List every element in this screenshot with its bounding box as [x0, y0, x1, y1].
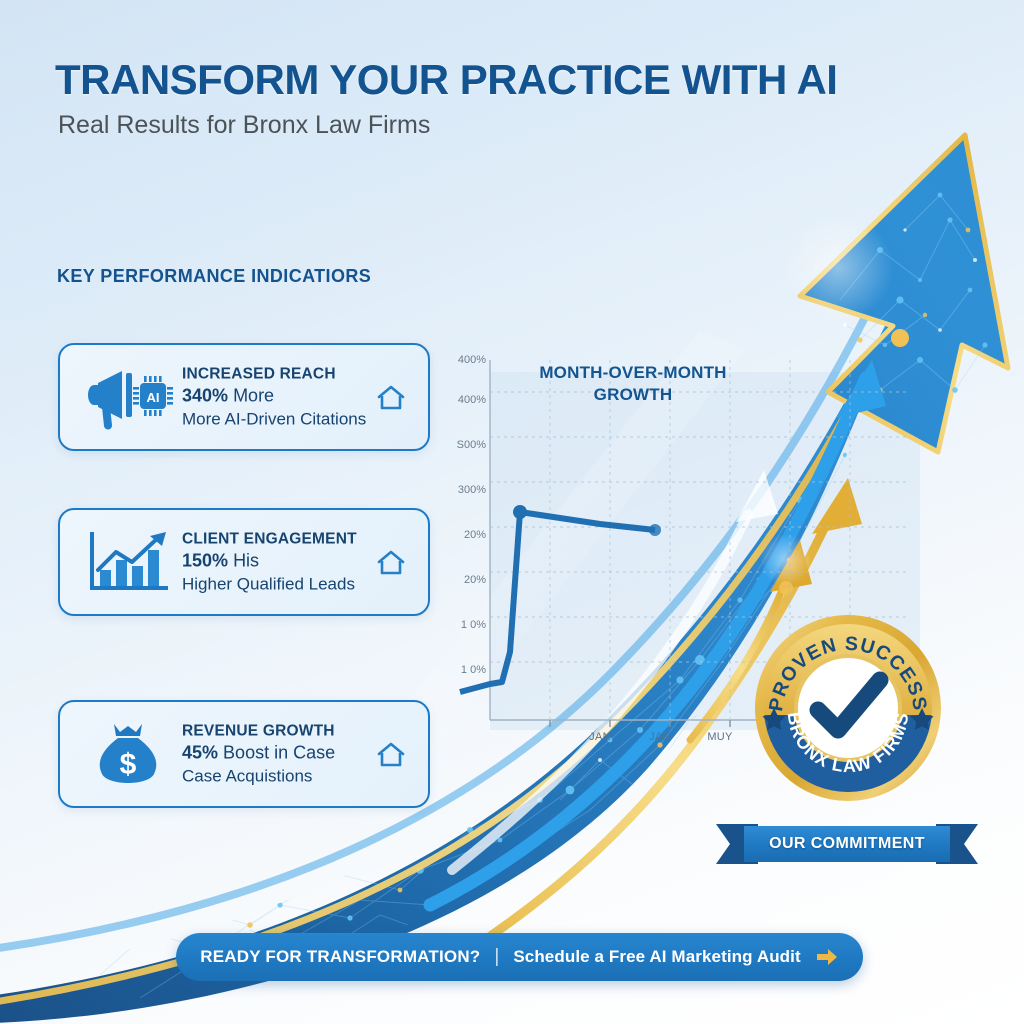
kpi-card-increased-reach[interactable]: AI INCREASED REACH 340% More More AI-Dri…	[58, 343, 430, 451]
kpi-card-title: INCREASED REACH	[182, 364, 394, 383]
kpi-card-stat-value: 150%	[182, 551, 228, 571]
home-icon	[376, 548, 406, 576]
bar-chart-growth-icon	[82, 526, 176, 598]
x-tick: MUY	[707, 731, 732, 743]
page-title: TRANSFORM YOUR PRACTICE WITH AI	[55, 58, 955, 102]
home-icon	[376, 383, 406, 411]
kpi-card-stat: 45% Boost in Case	[182, 742, 394, 765]
svg-text:$: $	[120, 748, 137, 781]
page-subtitle: Real Results for Bronx Law Firms	[58, 111, 955, 140]
kpi-card-stat-suffix: Boost in Case	[223, 743, 335, 763]
kpi-card-client-engagement[interactable]: CLIENT ENGAGEMENT 150% His Higher Qualif…	[58, 508, 430, 616]
home-icon	[376, 740, 406, 768]
svg-text:AI: AI	[147, 390, 160, 405]
money-bag-icon: $	[82, 718, 176, 790]
kpi-card-title: CLIENT ENGAGEMENT	[182, 529, 394, 548]
x-tick: JAN	[589, 731, 611, 743]
cta-button[interactable]: READY FOR TRANSFORMATION? | Schedule a F…	[176, 933, 863, 981]
arrow-right-icon	[815, 947, 839, 967]
header: TRANSFORM YOUR PRACTICE WITH AI Real Res…	[55, 58, 955, 140]
chart-y-axis-labels: 400% 400% S00% 300% 20% 20% 1 0% 1 0%	[444, 352, 486, 742]
y-tick: 300%	[458, 484, 486, 496]
our-commitment-ribbon: OUR COMMITMENT	[716, 822, 978, 866]
y-tick: 1 0%	[461, 619, 486, 631]
y-tick: 1 0%	[461, 664, 486, 676]
kpi-card-description: Higher Qualified Leads	[182, 573, 394, 594]
y-tick: 20%	[464, 529, 486, 541]
kpi-card-stat: 150% His	[182, 550, 394, 573]
y-tick: 400%	[458, 394, 486, 406]
y-tick: S00%	[457, 439, 486, 451]
kpi-card-title: REVENUE GROWTH	[182, 721, 394, 740]
cta-headline: READY FOR TRANSFORMATION?	[200, 947, 480, 967]
x-tick: JAN	[649, 731, 671, 743]
infographic-canvas: MONTH-OVER-MONTH GROWTH 400% 400% S00% 3…	[0, 0, 1024, 1024]
kpi-card-stat-suffix: His	[233, 551, 259, 571]
kpi-section-heading: KEY PERFORMANCE INDICATIORS	[57, 266, 371, 287]
chart-title: MONTH-OVER-MONTH GROWTH	[508, 362, 758, 406]
kpi-card-text: CLIENT ENGAGEMENT 150% His Higher Qualif…	[182, 529, 394, 594]
kpi-card-stat: 340% More	[182, 385, 394, 408]
megaphone-ai-chip-icon: AI	[82, 361, 176, 433]
proven-success-badge: PROVEN SUCCESS BRONX LAW FIRMS	[752, 612, 944, 804]
kpi-card-description: More AI-Driven Citations	[182, 408, 394, 429]
kpi-card-revenue-growth[interactable]: $ REVENUE GROWTH 45% Boost in Case Case …	[58, 700, 430, 808]
kpi-card-text: INCREASED REACH 340% More More AI-Driven…	[182, 364, 394, 429]
cta-action-text: Schedule a Free AI Marketing Audit	[513, 947, 800, 967]
ribbon-label: OUR COMMITMENT	[716, 822, 978, 866]
cta-divider: |	[494, 946, 499, 968]
y-tick: 20%	[464, 574, 486, 586]
kpi-card-stat-suffix: More	[233, 386, 274, 406]
kpi-card-text: REVENUE GROWTH 45% Boost in Case Case Ac…	[182, 721, 394, 786]
y-tick: 400%	[458, 354, 486, 366]
kpi-card-stat-value: 340%	[182, 386, 228, 406]
kpi-card-stat-value: 45%	[182, 743, 218, 763]
kpi-card-description: Case Acquistions	[182, 765, 394, 786]
